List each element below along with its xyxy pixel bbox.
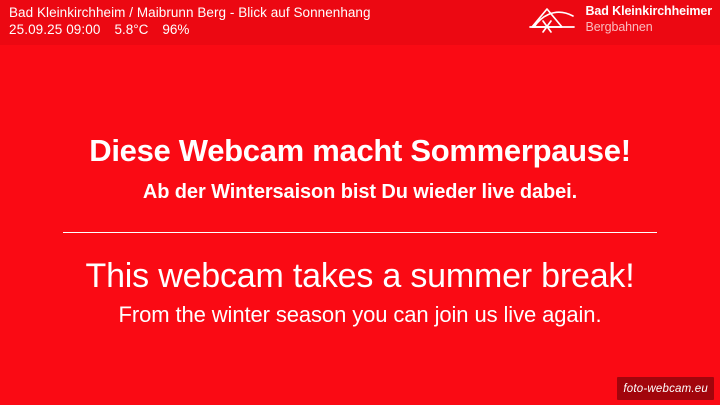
brand-wordmark: Bad Kleinkirchheimer Bergbahnen — [585, 5, 712, 33]
temperature-label: 5.8°C — [114, 21, 148, 38]
message-headline-en: This webcam takes a summer break! — [0, 256, 720, 296]
watermark-label: foto-webcam.eu — [623, 383, 708, 395]
mountain-with-crossed-skis-icon — [528, 4, 578, 34]
brand-name-secondary: Bergbahnen — [585, 21, 712, 34]
timestamp-label: 25.09.25 09:00 — [9, 21, 100, 38]
camera-location-label: Bad Kleinkirchheim / Maibrunn Berg - Bli… — [9, 4, 371, 21]
header-readings: 25.09.25 09:00 5.8°C 96% — [9, 21, 371, 38]
message-headline-de: Diese Webcam macht Sommerpause! — [0, 132, 720, 170]
humidity-label: 96% — [162, 21, 189, 38]
message-divider — [63, 232, 657, 233]
webcam-offline-frame: Bad Kleinkirchheim / Maibrunn Berg - Bli… — [0, 0, 720, 405]
watermark-badge[interactable]: foto-webcam.eu — [617, 377, 714, 400]
message-subline-en: From the winter season you can join us l… — [0, 301, 720, 329]
message-subline-de: Ab der Wintersaison bist Du wieder live … — [0, 179, 720, 205]
offline-message: Diese Webcam macht Sommerpause! Ab der W… — [0, 132, 720, 329]
header-info: Bad Kleinkirchheim / Maibrunn Berg - Bli… — [9, 4, 371, 38]
brand-logo[interactable]: Bad Kleinkirchheimer Bergbahnen — [528, 4, 712, 34]
brand-name-primary: Bad Kleinkirchheimer — [585, 5, 712, 18]
